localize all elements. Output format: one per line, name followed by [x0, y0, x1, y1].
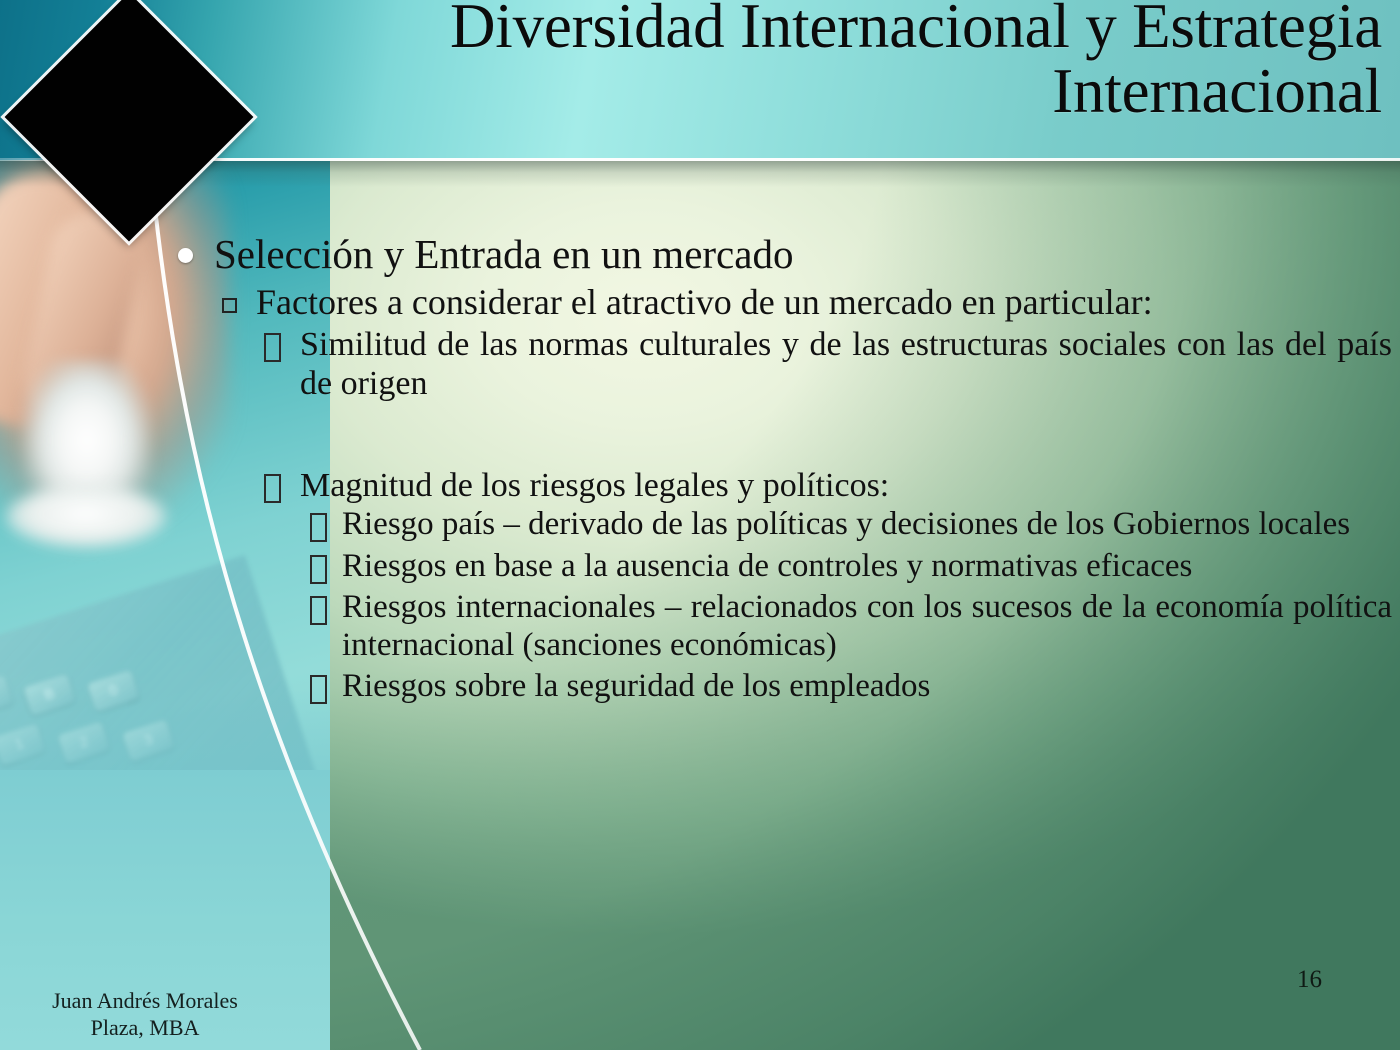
bullet-level3-similitud-text: Similitud de las normas culturales y de … [300, 326, 1392, 402]
content-spacer [170, 404, 1392, 466]
slide-number: 16 [1297, 966, 1322, 994]
bullet-level4-text: Riesgos en base a la ausencia de control… [342, 548, 1192, 584]
bullet-level4-riesgos-seguridad: Riesgos sobre la seguridad de los emplea… [306, 667, 1392, 705]
bullet-box-icon [310, 513, 327, 542]
bullet-square-icon [222, 298, 237, 313]
bullet-level3-magnitud: Magnitud de los riesgos legales y políti… [260, 466, 1392, 505]
slide-title: Diversidad Internacional y Estrategia In… [210, 0, 1382, 124]
author-name-line-2: Plaza, MBA [16, 1015, 274, 1042]
bullet-level3-magnitud-text: Magnitud de los riesgos legales y políti… [300, 467, 889, 504]
header-divider-shadow [0, 161, 1400, 187]
bullet-level1-text: Selección y Entrada en un mercado [214, 231, 793, 277]
bullet-level2-factores: Factores a considerar el atractivo de un… [218, 282, 1392, 323]
bullet-level4-riesgos-controles: Riesgos en base a la ausencia de control… [306, 547, 1392, 585]
bullet-box-icon [264, 474, 281, 503]
slide-body: Selección y Entrada en un mercado Factor… [170, 232, 1392, 709]
slide-title-line-1: Diversidad Internacional y Estrategia [210, 0, 1382, 59]
presentation-slide: A B 0 1 2 3 Diversidad Internacional y E… [0, 0, 1400, 1050]
bullet-circle-icon [178, 248, 193, 263]
bullet-box-icon [310, 675, 327, 704]
bullet-level3-similitud: Similitud de las normas culturales y de … [260, 325, 1392, 404]
bullet-level4-text: Riesgos internacionales – relacionados c… [342, 589, 1392, 663]
bullet-level1-seleccion: Selección y Entrada en un mercado [170, 232, 1392, 278]
bullet-level4-text: Riesgos sobre la seguridad de los emplea… [342, 668, 930, 704]
photo-chess-piece-base [6, 486, 166, 548]
bullet-box-icon [310, 596, 327, 625]
slide-title-line-2: Internacional [210, 59, 1382, 124]
bullet-level2-text: Factores a considerar el atractivo de un… [256, 282, 1153, 322]
author-name-line-1: Juan Andrés Morales [16, 988, 274, 1015]
bullet-box-icon [264, 333, 281, 362]
bullet-level4-text: Riesgo país – derivado de las políticas … [342, 506, 1350, 542]
bullet-level4-riesgos-internacionales: Riesgos internacionales – relacionados c… [306, 588, 1392, 665]
bullet-level4-riesgo-pais: Riesgo país – derivado de las políticas … [306, 505, 1392, 543]
author-footer: Juan Andrés Morales Plaza, MBA [16, 988, 274, 1042]
bullet-box-icon [310, 555, 327, 584]
